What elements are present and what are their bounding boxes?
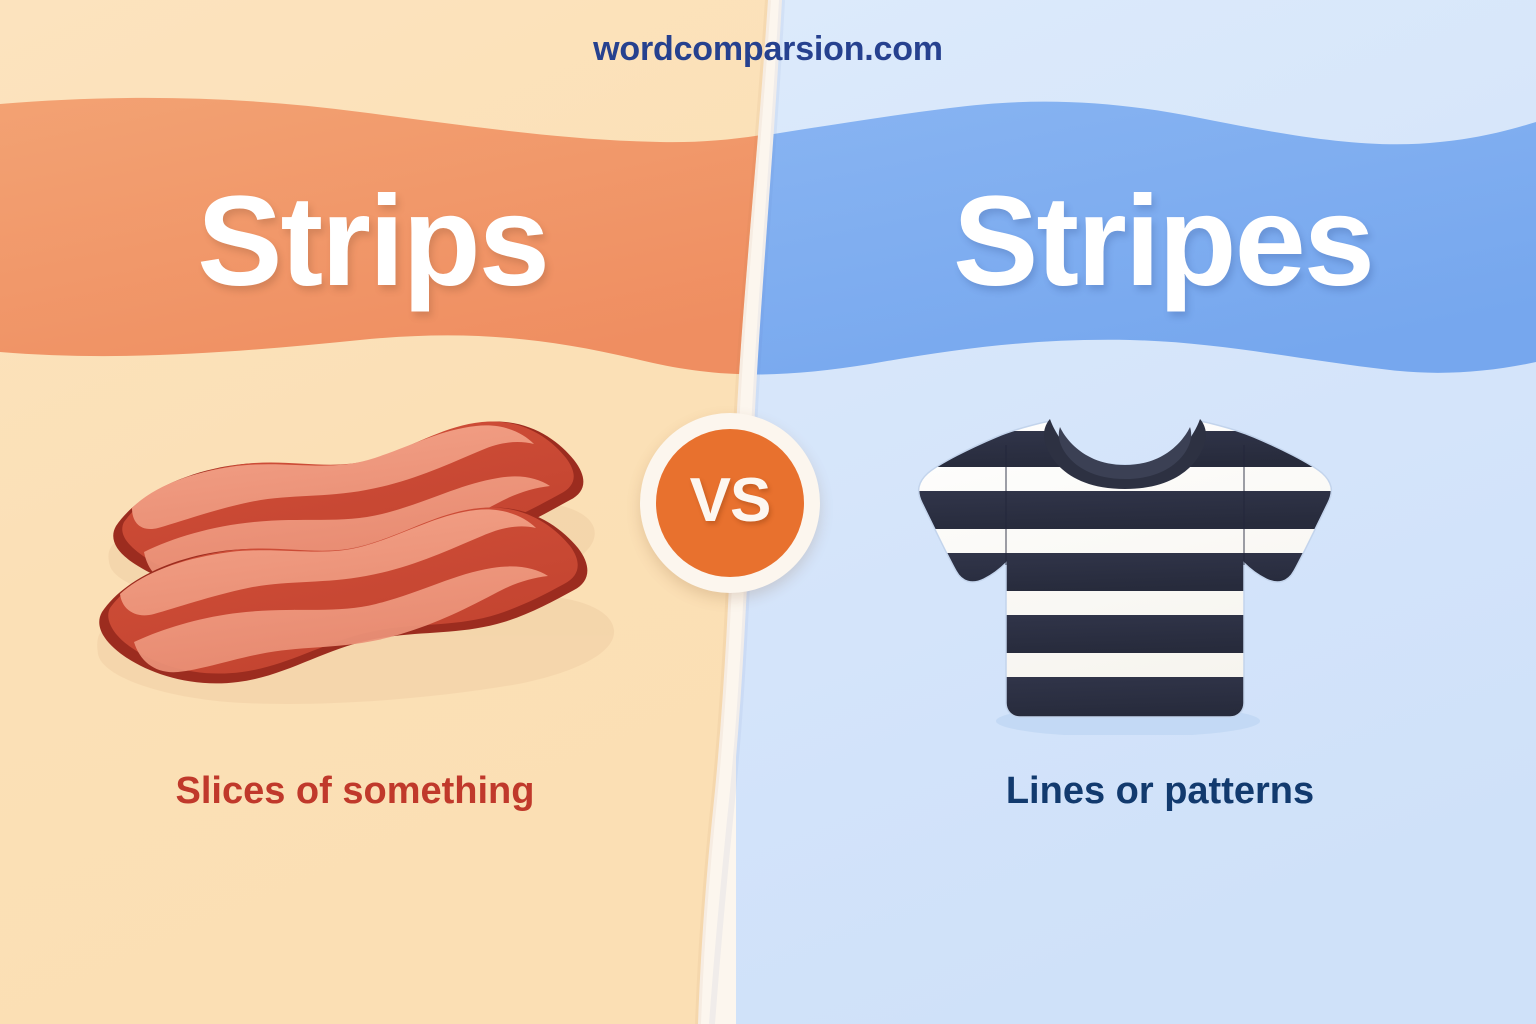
stripe-dark	[900, 491, 1350, 529]
comparison-infographic: wordcomparsion.com Strips Stripes	[0, 0, 1536, 1024]
tshirt-svg	[900, 405, 1350, 735]
bacon-svg	[88, 400, 628, 720]
stripe-dark	[900, 615, 1350, 653]
vs-badge-circle: VS	[656, 429, 804, 577]
stripe-dark	[900, 677, 1350, 717]
vs-badge: VS	[640, 413, 820, 593]
right-word-heading: Stripes	[790, 168, 1536, 315]
bacon-strips-illustration	[88, 400, 628, 720]
left-caption: Slices of something	[0, 770, 710, 813]
stripe-dark	[900, 553, 1350, 591]
right-caption: Lines or patterns	[800, 770, 1520, 813]
site-title: wordcomparsion.com	[0, 30, 1536, 69]
vs-badge-label: VS	[690, 470, 771, 536]
tshirt-body	[900, 405, 1350, 735]
striped-tshirt-illustration	[900, 405, 1350, 735]
left-word-heading: Strips	[0, 168, 745, 315]
